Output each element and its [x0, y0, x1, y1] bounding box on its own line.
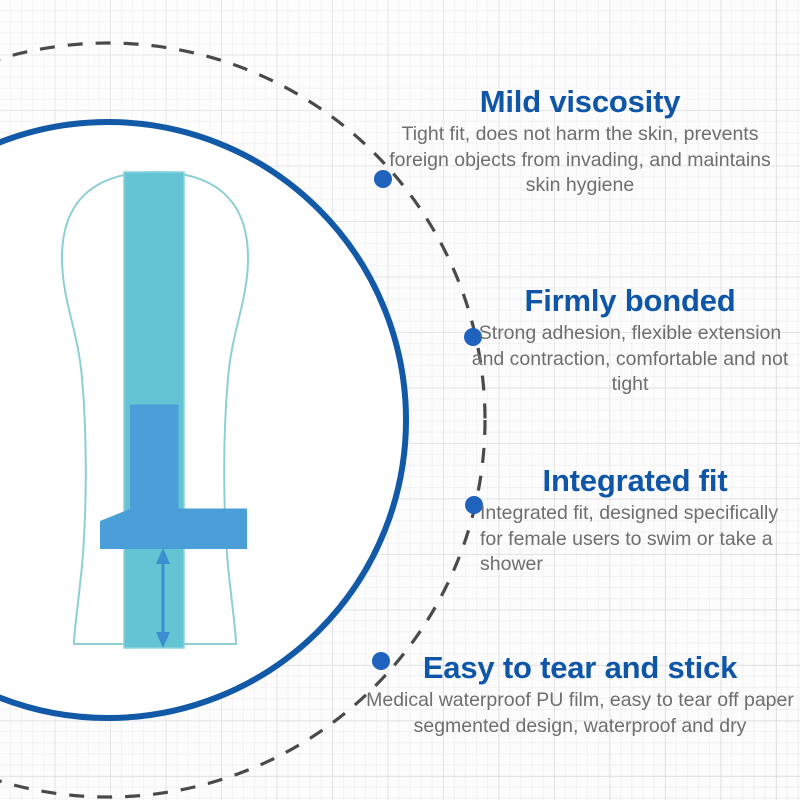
feature-block-integrated-fit: Integrated fit Integrated fit, designed …	[480, 463, 790, 578]
feature-title-integrated-fit: Integrated fit	[480, 463, 790, 499]
feature-body-easy-to-tear-and-stick: Medical waterproof PU film, easy to tear…	[360, 688, 800, 740]
feature-body-mild-viscosity: Tight fit, does not harm the skin, preve…	[370, 122, 790, 200]
infographic-canvas: Mild viscosity Tight fit, does not harm …	[0, 0, 800, 800]
feature-title-mild-viscosity: Mild viscosity	[370, 84, 790, 120]
feature-title-firmly-bonded: Firmly bonded	[470, 283, 790, 319]
feature-body-integrated-fit: Integrated fit, designed specifically fo…	[480, 501, 790, 579]
inner-white-disc	[0, 122, 406, 718]
feature-title-easy-to-tear-and-stick: Easy to tear and stick	[360, 650, 800, 686]
feature-block-firmly-bonded: Firmly bonded Strong adhesion, flexible …	[470, 283, 790, 398]
feature-body-firmly-bonded: Strong adhesion, flexible extension and …	[470, 321, 790, 399]
feature-block-mild-viscosity: Mild viscosity Tight fit, does not harm …	[370, 84, 790, 199]
feature-block-easy-to-tear-and-stick: Easy to tear and stick Medical waterproo…	[360, 650, 800, 739]
